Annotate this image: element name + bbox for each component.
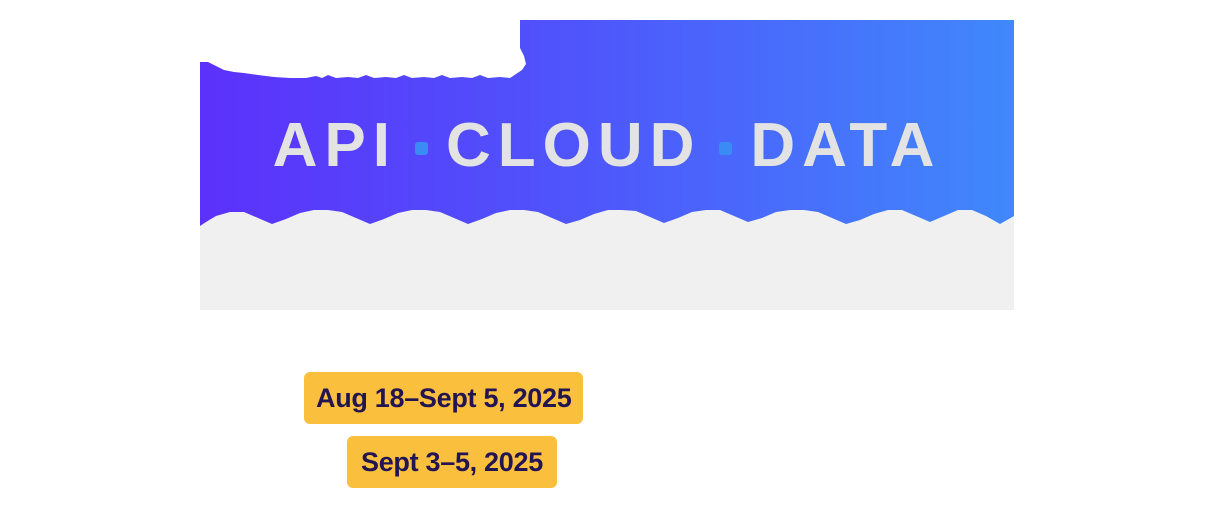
hero-banner: API CLOUD DATA: [200, 20, 1014, 310]
banner-gradient-shape: [200, 20, 1014, 226]
badge-secondary-dates[interactable]: Sept 3–5, 2025: [347, 436, 557, 488]
banner-graphic: [200, 20, 1014, 310]
badge-primary-dates[interactable]: Aug 18–Sept 5, 2025: [304, 372, 583, 424]
